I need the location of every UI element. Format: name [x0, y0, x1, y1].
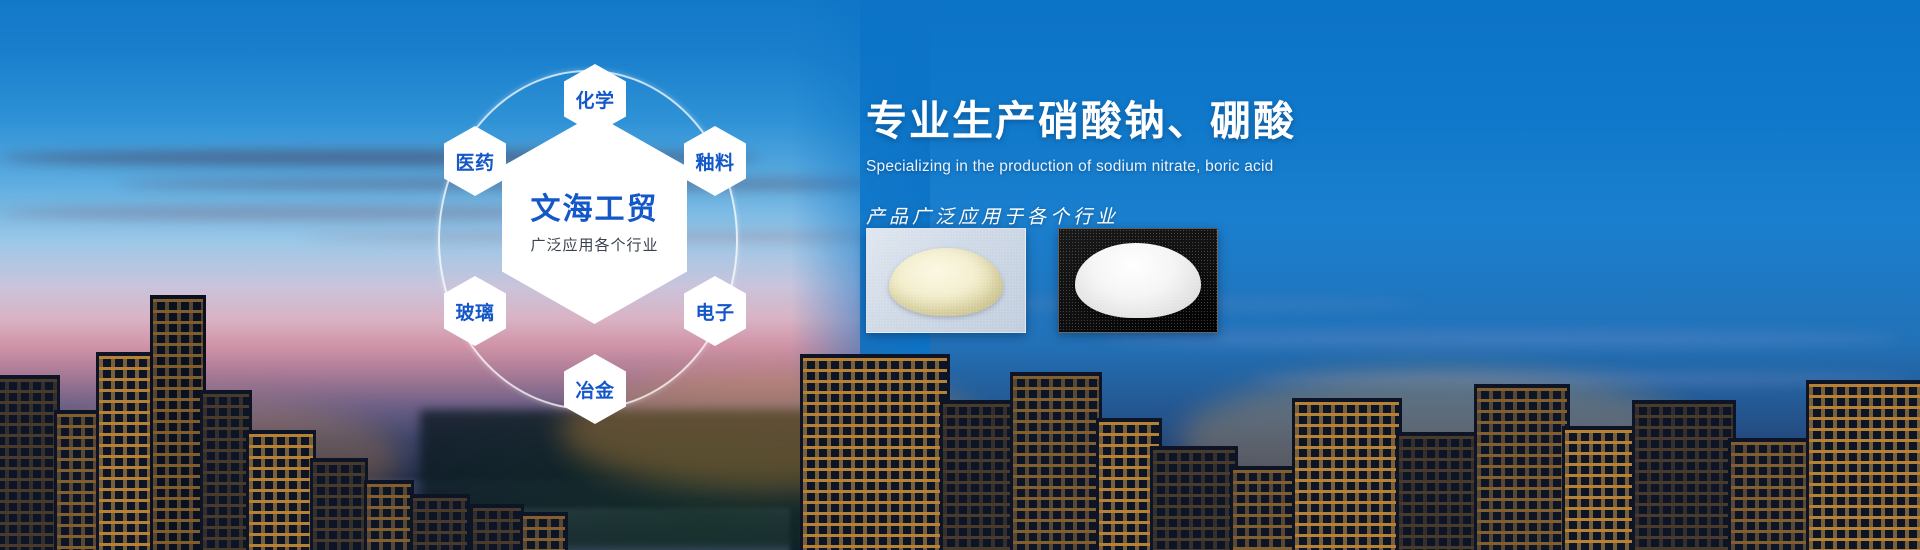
building	[1562, 426, 1640, 550]
company-name: 文海工贸	[531, 184, 659, 228]
building	[200, 390, 252, 550]
building	[520, 512, 568, 550]
building	[1010, 372, 1102, 550]
product-photo-boric-acid[interactable]	[1058, 228, 1218, 333]
building	[1632, 400, 1736, 550]
building	[54, 410, 100, 550]
building	[470, 504, 524, 550]
promo-banner: 文海工贸 广泛应用各个行业 化学 釉料 电子 冶金 玻璃 医药 专业生产硝酸钠、…	[0, 0, 1920, 550]
tower-landmark	[150, 295, 206, 550]
building	[1396, 432, 1482, 550]
building	[940, 400, 1018, 550]
product-photo-sodium-nitrate[interactable]	[866, 228, 1026, 333]
product-photo-group	[866, 228, 1218, 333]
powder-grain-texture	[867, 229, 1025, 332]
hex-node-label: 电子	[695, 298, 734, 325]
company-tagline: 广泛应用各个行业	[530, 234, 658, 255]
building	[96, 352, 158, 550]
hex-node-label: 化学	[575, 86, 614, 113]
building	[246, 430, 316, 550]
powder-grain-texture	[1059, 229, 1217, 332]
building	[1150, 446, 1238, 550]
banner-subtitle-en: Specializing in the production of sodium…	[866, 158, 1586, 176]
hex-node-label: 玻璃	[455, 298, 494, 325]
building	[1292, 398, 1402, 550]
hex-node-label: 医药	[455, 148, 494, 175]
banner-headline: 专业生产硝酸钠、硼酸	[866, 98, 1586, 145]
building	[310, 458, 368, 550]
building	[364, 480, 414, 550]
building	[1728, 438, 1814, 550]
building	[800, 354, 950, 550]
building	[1474, 384, 1570, 550]
marketing-copy: 专业生产硝酸钠、硼酸 Specializing in the productio…	[866, 98, 1586, 229]
building	[0, 375, 60, 550]
banner-tagline: 产品广泛应用于各个行业	[866, 202, 1586, 229]
industry-hex-diagram: 文海工贸 广泛应用各个行业 化学 釉料 电子 冶金 玻璃 医药	[430, 30, 760, 450]
building	[1230, 466, 1300, 550]
hex-node-label: 冶金	[575, 376, 614, 403]
building	[410, 494, 470, 550]
hex-node-label: 釉料	[695, 148, 734, 175]
building	[1806, 380, 1920, 550]
